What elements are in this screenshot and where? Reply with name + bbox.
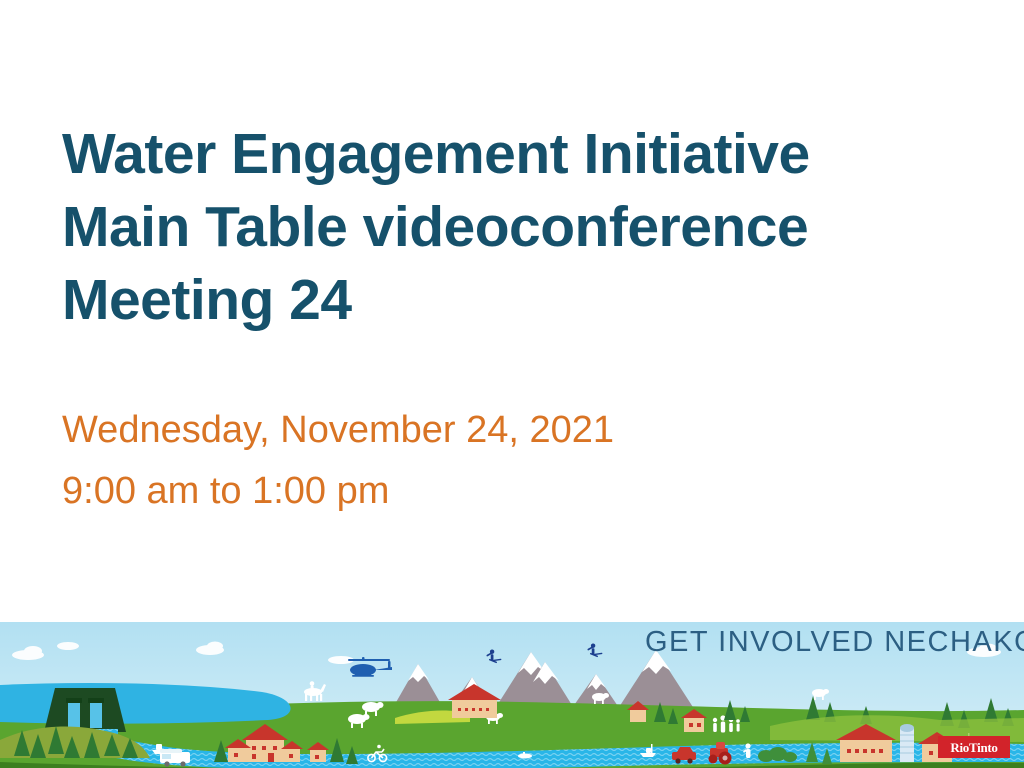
- subtitle: Wednesday, November 24, 2021 9:00 am to …: [62, 400, 922, 522]
- meeting-date: Wednesday, November 24, 2021: [62, 400, 922, 461]
- title-line-3: Meeting 24: [62, 264, 922, 337]
- nechako-landscape-banner: [0, 622, 1024, 768]
- slide-canvas: Water Engagement Initiative Main Table v…: [0, 0, 1024, 768]
- title-line-1: Water Engagement Initiative: [62, 118, 922, 191]
- rio-tinto-logo-text: RioTinto: [950, 741, 997, 754]
- meeting-time: 9:00 am to 1:00 pm: [62, 461, 922, 522]
- title-line-2: Main Table videoconference: [62, 191, 922, 264]
- landscape-illustration: [0, 622, 1024, 768]
- rio-tinto-logo: RioTinto: [938, 736, 1010, 758]
- page-title: Water Engagement Initiative Main Table v…: [62, 118, 922, 337]
